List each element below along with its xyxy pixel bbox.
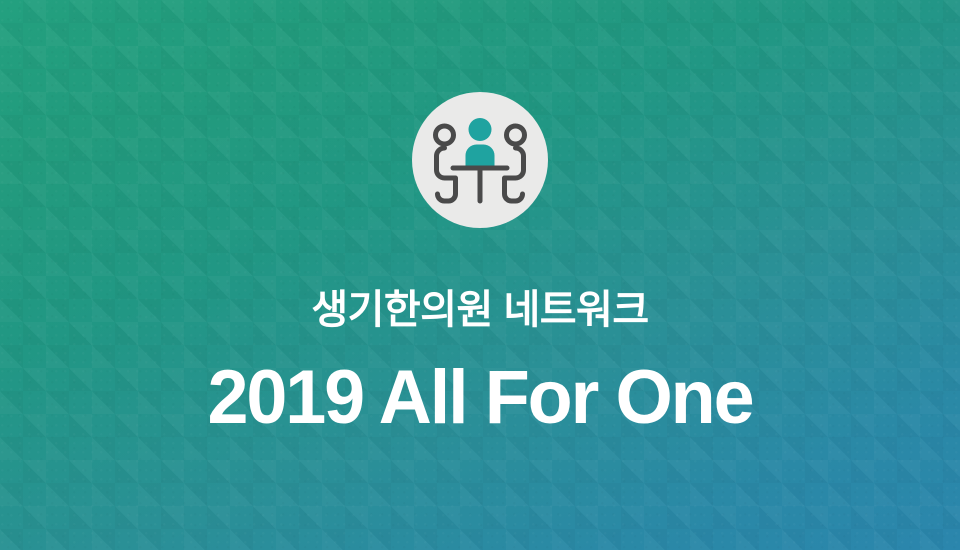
meeting-people-icon [428, 108, 532, 212]
poster-subtitle: 생기한의원 네트워크 [0, 285, 960, 335]
poster-canvas: 생기한의원 네트워크 2019 All For One [0, 0, 960, 550]
right-figure-outline [505, 126, 525, 201]
poster-headline: 2019 All For One [14, 355, 945, 441]
center-figure-teal [466, 118, 495, 168]
table-shape [453, 168, 507, 201]
left-figure-outline [436, 126, 456, 201]
poster-content: 생기한의원 네트워크 2019 All For One [0, 0, 960, 550]
emblem-circle [412, 92, 548, 228]
